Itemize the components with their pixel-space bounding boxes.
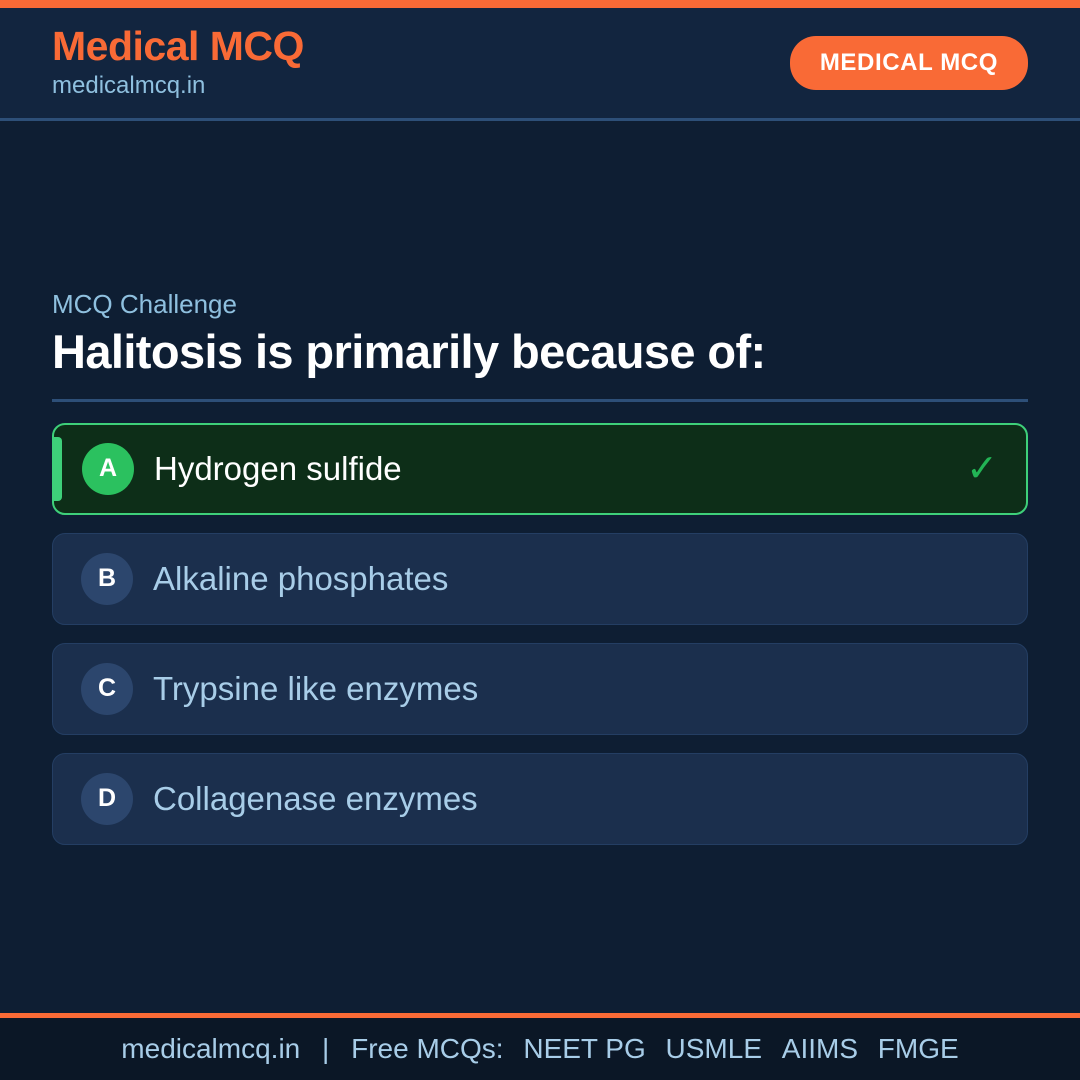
question-section: MCQ Challenge Halitosis is primarily bec… <box>0 121 1080 1013</box>
option-row[interactable]: C Trypsine like enzymes <box>52 643 1028 735</box>
option-row[interactable]: B Alkaline phosphates <box>52 533 1028 625</box>
question-text: Halitosis is primarily because of: <box>52 324 1028 379</box>
footer-exam: USMLE <box>654 1033 762 1064</box>
mcq-card: Medical MCQ medicalmcq.in MEDICAL MCQ MC… <box>0 0 1080 1080</box>
option-row[interactable]: A Hydrogen sulfide ✓ <box>52 423 1028 515</box>
top-accent-rule <box>0 0 1080 8</box>
option-text: Alkaline phosphates <box>153 559 448 599</box>
options-list: A Hydrogen sulfide ✓ B Alkaline phosphat… <box>52 423 1028 845</box>
brand-subtitle: medicalmcq.in <box>52 71 304 101</box>
check-icon: ✓ <box>966 450 998 488</box>
footer-exam: AIIMS <box>770 1033 858 1064</box>
header-bar: Medical MCQ medicalmcq.in MEDICAL MCQ <box>0 8 1080 121</box>
footer-label: Free MCQs: <box>351 1033 503 1064</box>
option-letter-badge: B <box>81 553 133 605</box>
footer-bar: medicalmcq.in | Free MCQs: NEET PG USMLE… <box>0 1013 1080 1080</box>
brand: Medical MCQ medicalmcq.in <box>52 25 304 100</box>
eyebrow-label: MCQ Challenge <box>52 289 1028 320</box>
header-badge: MEDICAL MCQ <box>790 36 1028 90</box>
option-row[interactable]: D Collagenase enzymes <box>52 753 1028 845</box>
brand-title: Medical MCQ <box>52 25 304 68</box>
option-letter-badge: A <box>82 443 134 495</box>
footer-exam: NEET PG <box>511 1033 645 1064</box>
footer-site: medicalmcq.in <box>121 1033 300 1064</box>
option-letter-badge: D <box>81 773 133 825</box>
footer-exam: FMGE <box>866 1033 959 1064</box>
question-divider <box>52 399 1028 402</box>
option-text: Hydrogen sulfide <box>154 449 402 489</box>
option-text: Trypsine like enzymes <box>153 669 478 709</box>
footer-separator: | <box>308 1033 343 1064</box>
option-letter-badge: C <box>81 663 133 715</box>
option-text: Collagenase enzymes <box>153 779 478 819</box>
footer-text: medicalmcq.in | Free MCQs: NEET PG USMLE… <box>121 1033 958 1065</box>
